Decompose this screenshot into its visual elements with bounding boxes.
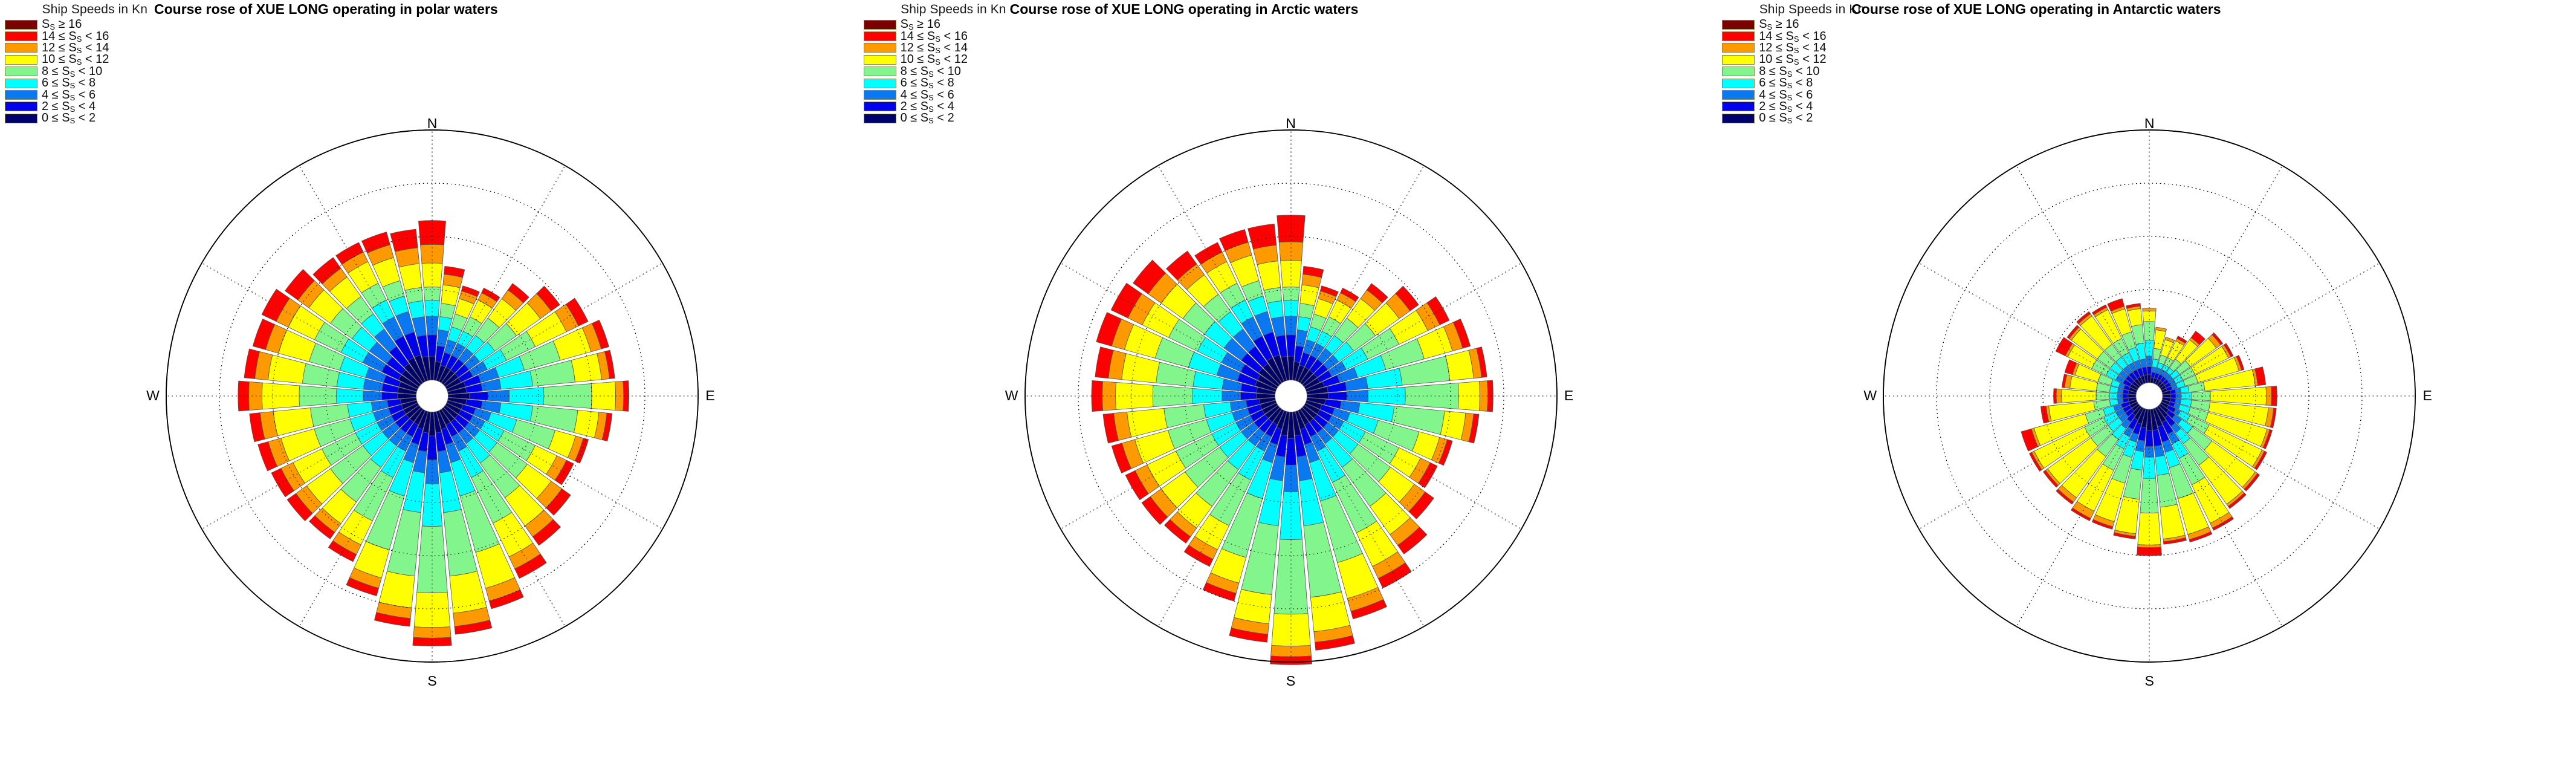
rose-petal-segment[interactable] [1277,215,1304,242]
rose-petal-segment[interactable] [363,391,382,401]
rose-petal-segment[interactable] [1310,592,1350,632]
rose-petal-segment[interactable] [1270,645,1311,657]
compass-label-w: W [1862,388,1879,404]
compass-label-n: N [1283,115,1299,132]
rose-petal-segment[interactable] [1445,350,1474,380]
rose-petal-segment[interactable] [439,317,452,332]
rose-petal-segment[interactable] [427,335,437,356]
course-rose-figure: Ship Speeds in Kn SS ≥ 1614 ≤ SS < 1612 … [0,0,2576,760]
rose-petal-segment[interactable] [2109,393,2117,399]
rose-petal-segment[interactable] [574,410,599,438]
panel-arctic-waters: Ship Speeds in Kn SS ≥ 1614 ≤ SS < 1612 … [859,0,1718,760]
polar-center-hole [416,380,448,412]
rose-petal-segment[interactable] [2144,322,2155,340]
rose-petal-segment[interactable] [2146,356,2152,367]
compass-label-w: W [144,388,161,404]
rose-petal-segment[interactable] [399,264,421,290]
polar-center-hole [1275,380,1307,412]
rose-petals[interactable] [1092,215,1493,665]
rose-petal-segment[interactable] [1368,387,1405,404]
polar-chart-svg [1717,0,2576,760]
polar-center-hole [2136,383,2163,409]
rose-petal-segment[interactable] [1487,380,1493,412]
rose-petal-segment[interactable] [2170,394,2176,398]
rose-petal-segment[interactable] [424,287,441,300]
rose-petal-segment[interactable] [1272,614,1310,646]
rose-petal-segment[interactable] [1286,335,1296,356]
rose-petal-segment[interactable] [1298,304,1314,319]
rose-petals[interactable] [238,221,629,646]
rose-petal-segment[interactable] [421,244,444,263]
rose-petal-segment[interactable] [299,386,337,406]
rose-petal-segment[interactable] [1458,382,1480,411]
rose-petal-segment[interactable] [1286,438,1296,465]
rose-petal-segment[interactable] [2176,394,2181,398]
rose-petal-segment[interactable] [1297,317,1310,332]
rose-petal-segment[interactable] [379,571,415,608]
polar-chart-svg [0,0,859,760]
rose-petal-segment[interactable] [1193,388,1222,403]
rose-petal-segment[interactable] [238,381,250,411]
rose-petal-segment[interactable] [1257,261,1281,291]
rose-petal-segment[interactable] [408,300,424,319]
compass-label-e: E [1561,388,1578,404]
compass-label-e: E [2419,388,2436,404]
rose-petal-segment[interactable] [2271,386,2277,406]
compass-label-n: N [2141,115,2158,132]
rose-petal-segment[interactable] [413,637,451,646]
rose-petal-segment[interactable] [2117,394,2123,398]
rose-petal-segment[interactable] [1283,465,1298,492]
compass-label-s: S [1283,673,1299,689]
polar-plot-3[interactable]: NESW [1717,0,2576,760]
rose-petal-segment[interactable] [440,304,456,319]
rose-petal-segment[interactable] [2154,445,2164,457]
rose-petal-segment[interactable] [2128,308,2143,326]
rose-petal-segment[interactable] [1283,300,1298,317]
rose-petal-segment[interactable] [1280,261,1301,288]
rose-petal-segment[interactable] [2123,394,2128,398]
rose-petal-segment[interactable] [441,285,460,306]
rose-petal-segment[interactable] [337,389,363,404]
rose-petal-segment[interactable] [2143,308,2157,311]
rose-petal-segment[interactable] [1279,242,1303,261]
rose-petal-segment[interactable] [1092,380,1103,411]
rose-petal-segment[interactable] [414,593,450,628]
rose-petal-segment[interactable] [2096,392,2109,400]
rose-petal-segment[interactable] [1222,391,1240,401]
rose-petal-segment[interactable] [1274,539,1308,614]
panel-polar-waters: Ship Speeds in Kn SS ≥ 1614 ≤ SS < 1612 … [0,0,859,760]
rose-petal-segment[interactable] [1284,316,1296,335]
rose-petal-segment[interactable] [425,300,440,317]
rose-petal-segment[interactable] [2266,386,2271,405]
rose-petal-segment[interactable] [2192,391,2210,401]
rose-petal-segment[interactable] [571,354,601,382]
polar-chart-svg [859,0,1718,760]
polar-plot-2[interactable]: NESW [859,0,1718,760]
panel-antarctic-waters: Ship Speeds in Kn SS ≥ 1614 ≤ SS < 1612 … [1717,0,2576,760]
rose-petal-segment[interactable] [390,229,418,252]
rose-petal-segment[interactable] [262,383,299,409]
rose-petals[interactable] [2021,299,2277,556]
rose-petal-segment[interactable] [2062,389,2096,403]
rose-petal-segment[interactable] [2181,393,2192,400]
rose-petal-segment[interactable] [488,390,509,402]
rose-petal-segment[interactable] [1115,382,1153,409]
rose-petal-segment[interactable] [1347,390,1368,402]
rose-petal-segment[interactable] [1248,224,1276,249]
compass-label-n: N [424,115,441,132]
rose-petal-segment[interactable] [1267,300,1283,319]
polar-plot-1[interactable]: NESW [0,0,859,760]
rose-petal-segment[interactable] [1234,589,1272,624]
rose-petal-segment[interactable] [2145,340,2154,357]
rose-petal-segment[interactable] [1299,285,1318,306]
rose-petal-segment[interactable] [1102,382,1116,411]
compass-label-e: E [702,388,719,404]
rose-petal-segment[interactable] [426,316,438,335]
rose-petal-segment[interactable] [2054,389,2057,404]
compass-label-s: S [2141,673,2158,689]
compass-label-s: S [424,673,441,689]
rose-petal-segment[interactable] [450,571,487,613]
rose-petal-segment[interactable] [1283,287,1299,300]
rose-petal-segment[interactable] [2138,545,2161,548]
compass-label-w: W [1003,388,1020,404]
